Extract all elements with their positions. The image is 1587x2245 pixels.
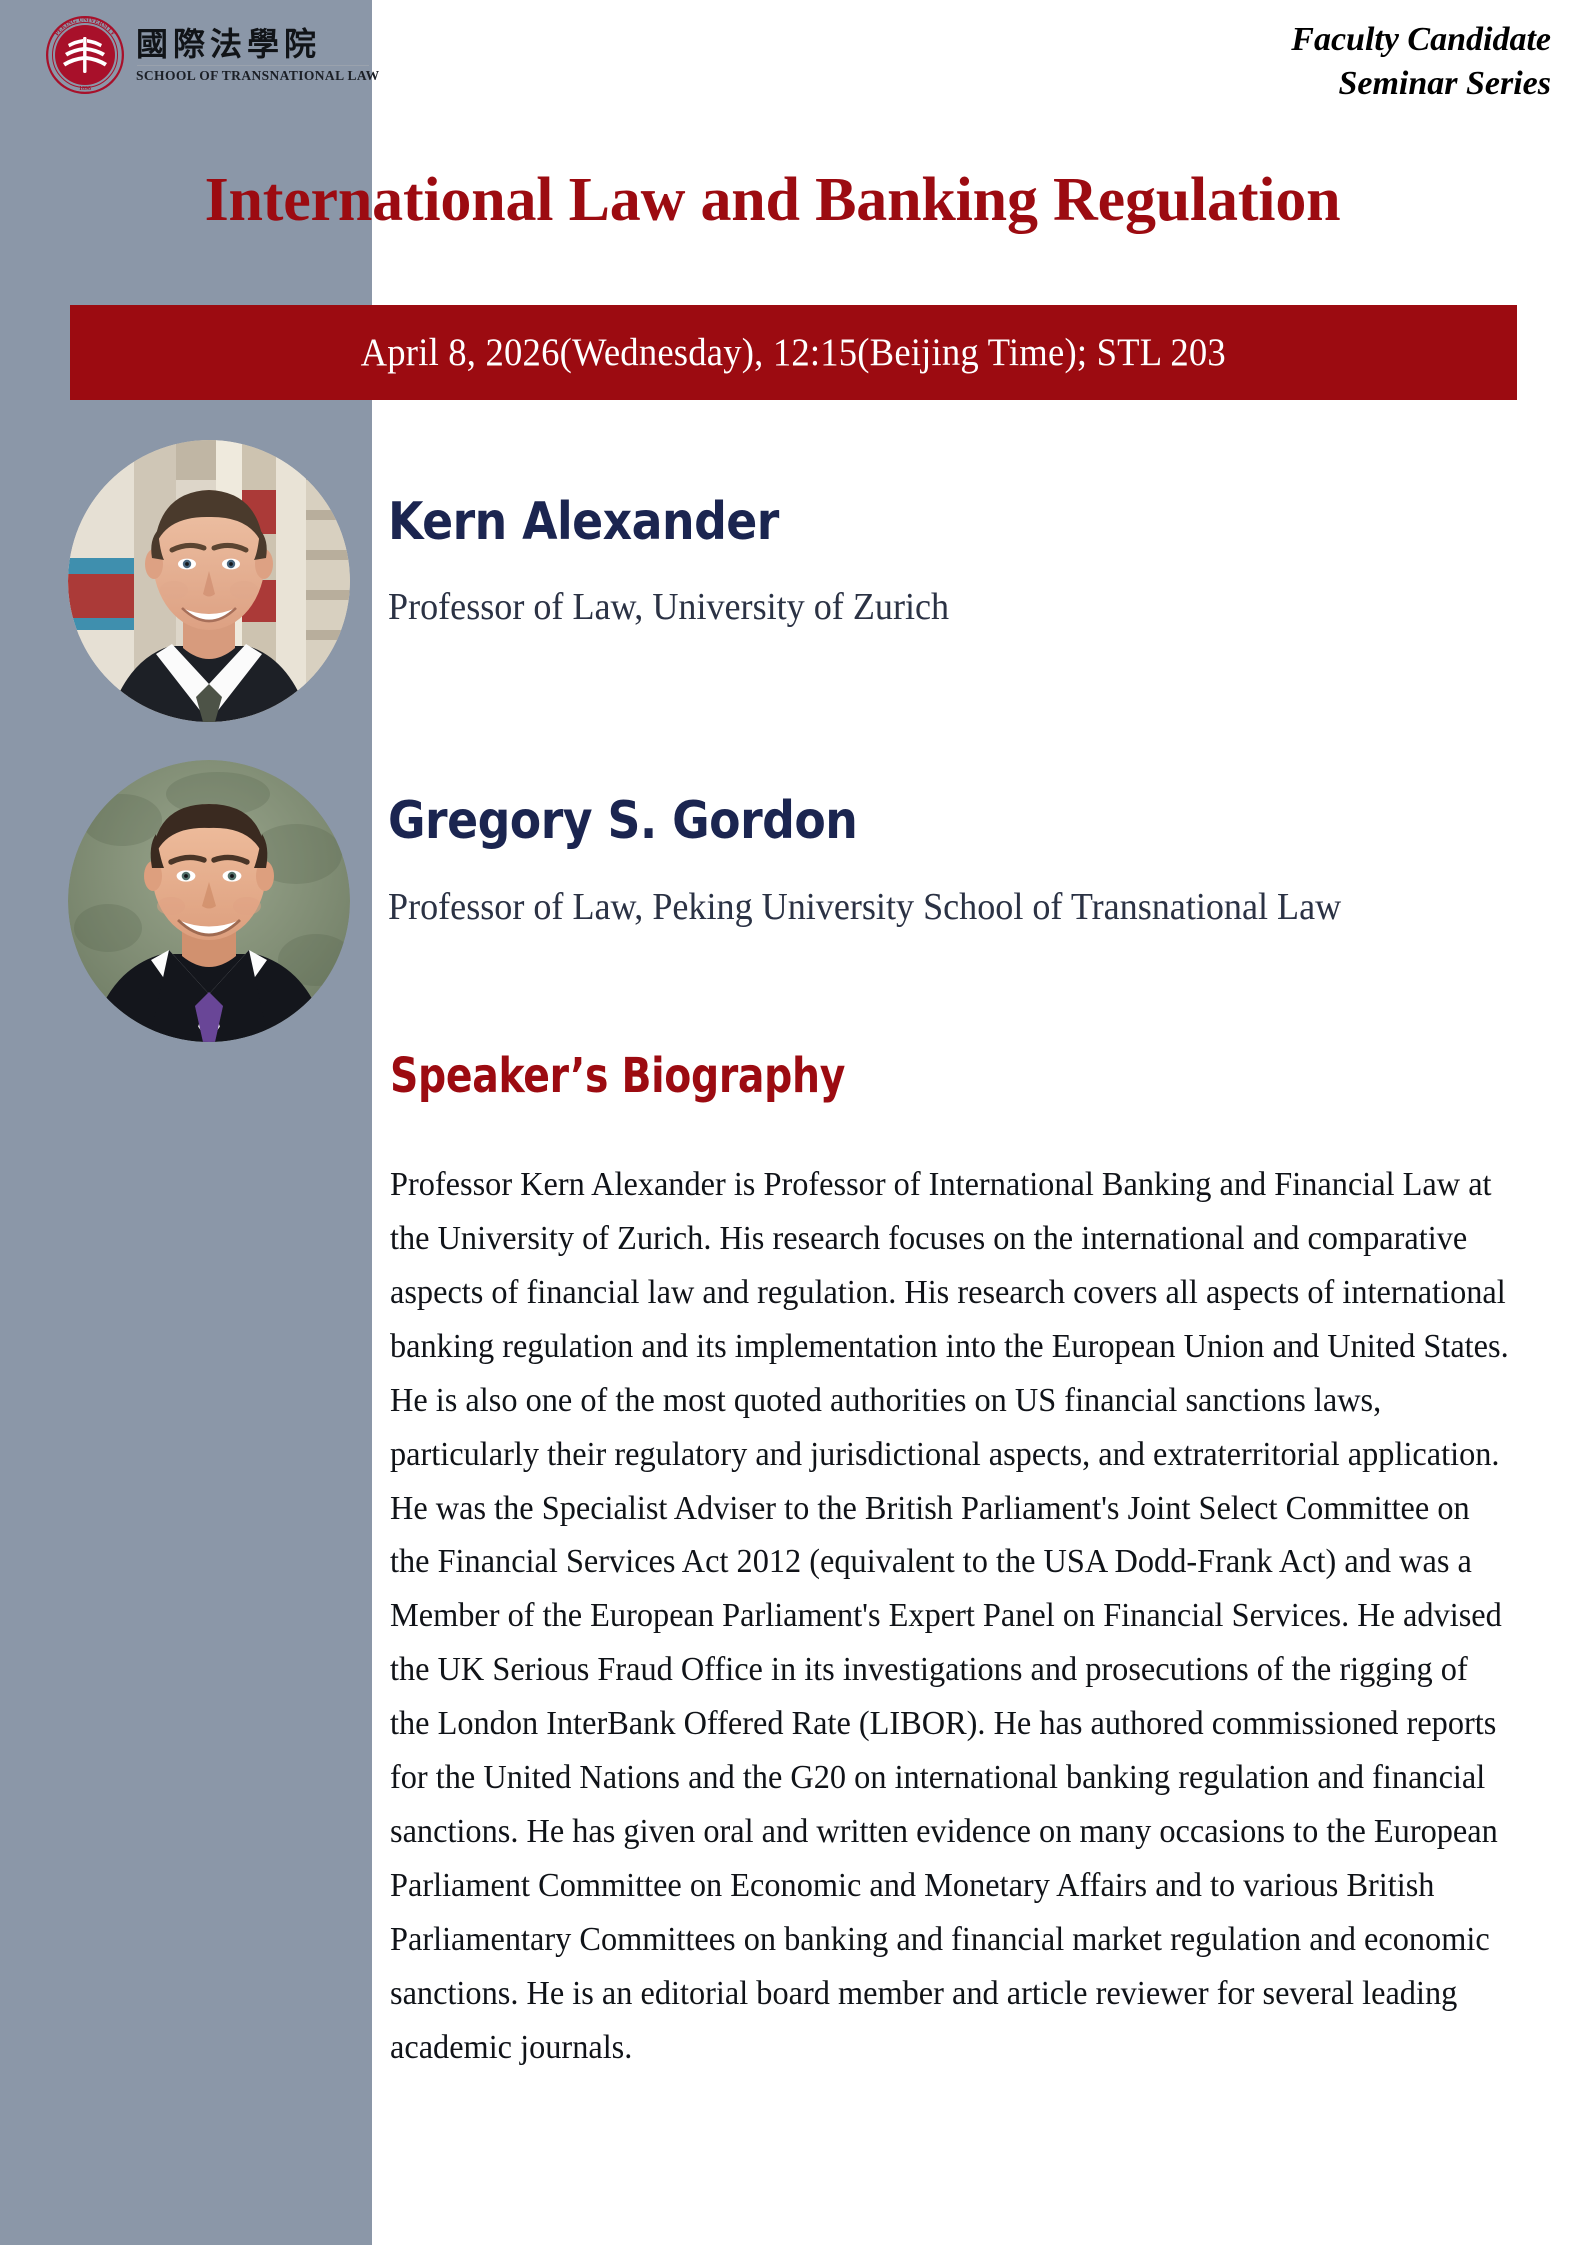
peking-university-seal-icon: PEKING UNIVERSITY 1898 <box>46 16 124 94</box>
page-title: International Law and Banking Regulation <box>0 168 1545 234</box>
speaker-2-name: Gregory S. Gordon <box>388 795 857 847</box>
series-line-1: Faculty Candidate <box>1291 18 1551 62</box>
date-time-venue-text: April 8, 2026(Wednesday), 12:15(Beijing … <box>361 330 1226 375</box>
speaker-1-role: Professor of Law, University of Zurich <box>388 582 1367 633</box>
speaker-2-portrait <box>68 760 350 1042</box>
biography-heading: Speaker’s Biography <box>390 1052 845 1100</box>
logo-divider <box>137 65 369 67</box>
speaker-1-portrait <box>68 440 350 722</box>
series-line-2: Seminar Series <box>1291 62 1551 106</box>
biography-body: Professor Kern Alexander is Professor of… <box>390 1158 1514 2075</box>
date-time-venue-banner: April 8, 2026(Wednesday), 12:15(Beijing … <box>70 305 1517 400</box>
logo-chinese-name: 國際法學院 <box>136 28 379 62</box>
institution-logo: PEKING UNIVERSITY 1898 國際法學院 School of T… <box>46 12 366 98</box>
svg-text:1898: 1898 <box>79 86 91 92</box>
logo-english-name: School of Transnational Law <box>136 68 379 84</box>
speaker-1-name: Kern Alexander <box>388 496 779 548</box>
speaker-2-role: Professor of Law, Peking University Scho… <box>388 882 1367 933</box>
svg-text:PEKING UNIVERSITY: PEKING UNIVERSITY <box>53 16 117 37</box>
seminar-series-label: Faculty Candidate Seminar Series <box>1291 18 1551 105</box>
